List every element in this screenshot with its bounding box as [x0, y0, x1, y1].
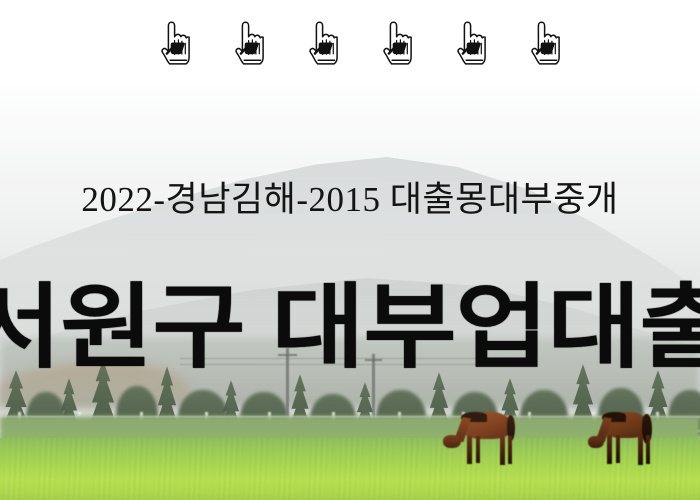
pointing-hand-icon: [308, 20, 338, 66]
horse-leg: [476, 436, 480, 463]
pointing-hand-icon: [382, 20, 412, 66]
pointing-hand-icon: [530, 20, 560, 66]
pointing-hand-icon: [234, 20, 264, 66]
horse-leg: [616, 435, 620, 463]
pointing-hand-icon: [456, 20, 486, 66]
subtitle-text: 2022-경남김해-2015 대출몽대부중개: [0, 182, 700, 217]
thumbnail-canvas: 2022-경남김해-2015 대출몽대부중개 서원구 대부업대출: [0, 0, 700, 500]
grazing-horse-left: [443, 412, 519, 470]
horse-leg: [646, 435, 650, 464]
horse-head: [588, 436, 604, 448]
horse-leg: [500, 436, 505, 465]
horse-leg: [607, 435, 612, 464]
horse-leg: [638, 435, 643, 465]
horse-leg: [467, 436, 472, 464]
top-emoji-band: [0, 0, 700, 86]
horse-leg: [508, 436, 512, 464]
grazing-horse-right: [588, 412, 658, 470]
pointing-hand-icon: [160, 20, 190, 66]
headline-text: 서원구 대부업대출: [0, 282, 700, 374]
horse-head: [443, 435, 461, 448]
